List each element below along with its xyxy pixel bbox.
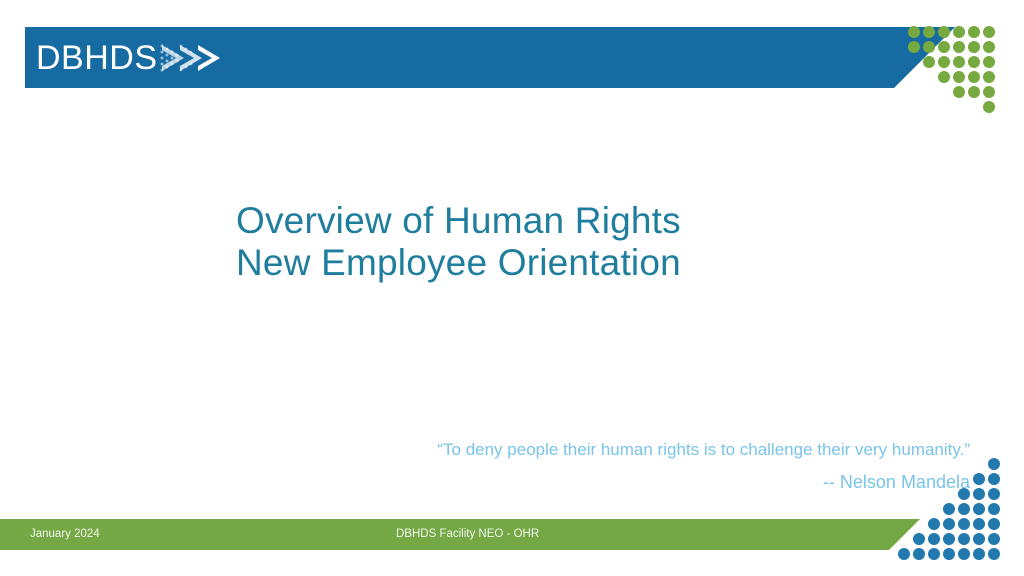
quote-block: “To deny people their human rights is to… (120, 437, 970, 497)
slide-title: Overview of Human Rights New Employee Or… (236, 200, 856, 284)
logo-wordmark: DBHDS (36, 41, 158, 75)
quote-attribution: -- Nelson Mandela (120, 467, 970, 497)
slide-canvas: DBHDS (0, 0, 1024, 576)
dbhds-logo: DBHDS (36, 38, 222, 78)
footer-date-label: January 2024 (30, 527, 100, 541)
green-dot-pattern (906, 24, 1006, 120)
slide-title-line-1: Overview of Human Rights (236, 200, 856, 242)
triple-chevron-right-icon (160, 41, 222, 75)
slide-title-line-2: New Employee Orientation (236, 242, 856, 284)
blue-dot-pattern (896, 456, 1006, 566)
footer-course-label: DBHDS Facility NEO - OHR (396, 527, 539, 541)
quote-text: “To deny people their human rights is to… (120, 437, 970, 463)
